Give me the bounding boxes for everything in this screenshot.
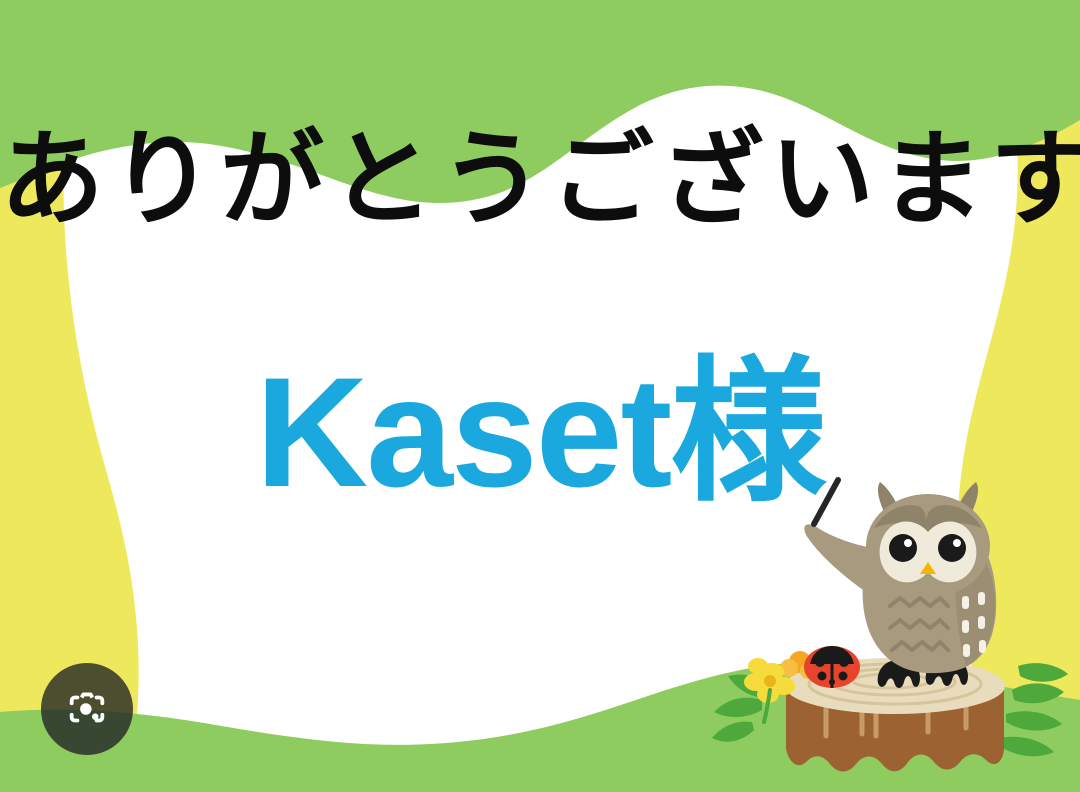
owl-eye-left-highlight — [904, 539, 912, 547]
thank-you-card-image: ありがとうございます Kaset様 — [0, 0, 1080, 792]
owl-eye-left — [889, 534, 917, 562]
google-lens-camera-icon — [64, 686, 110, 732]
owl-eye-right-highlight — [953, 539, 961, 547]
google-lens-button[interactable] — [41, 663, 133, 755]
ladybug — [804, 646, 860, 688]
card-background — [0, 0, 1080, 792]
owl-eye-right — [938, 534, 966, 562]
